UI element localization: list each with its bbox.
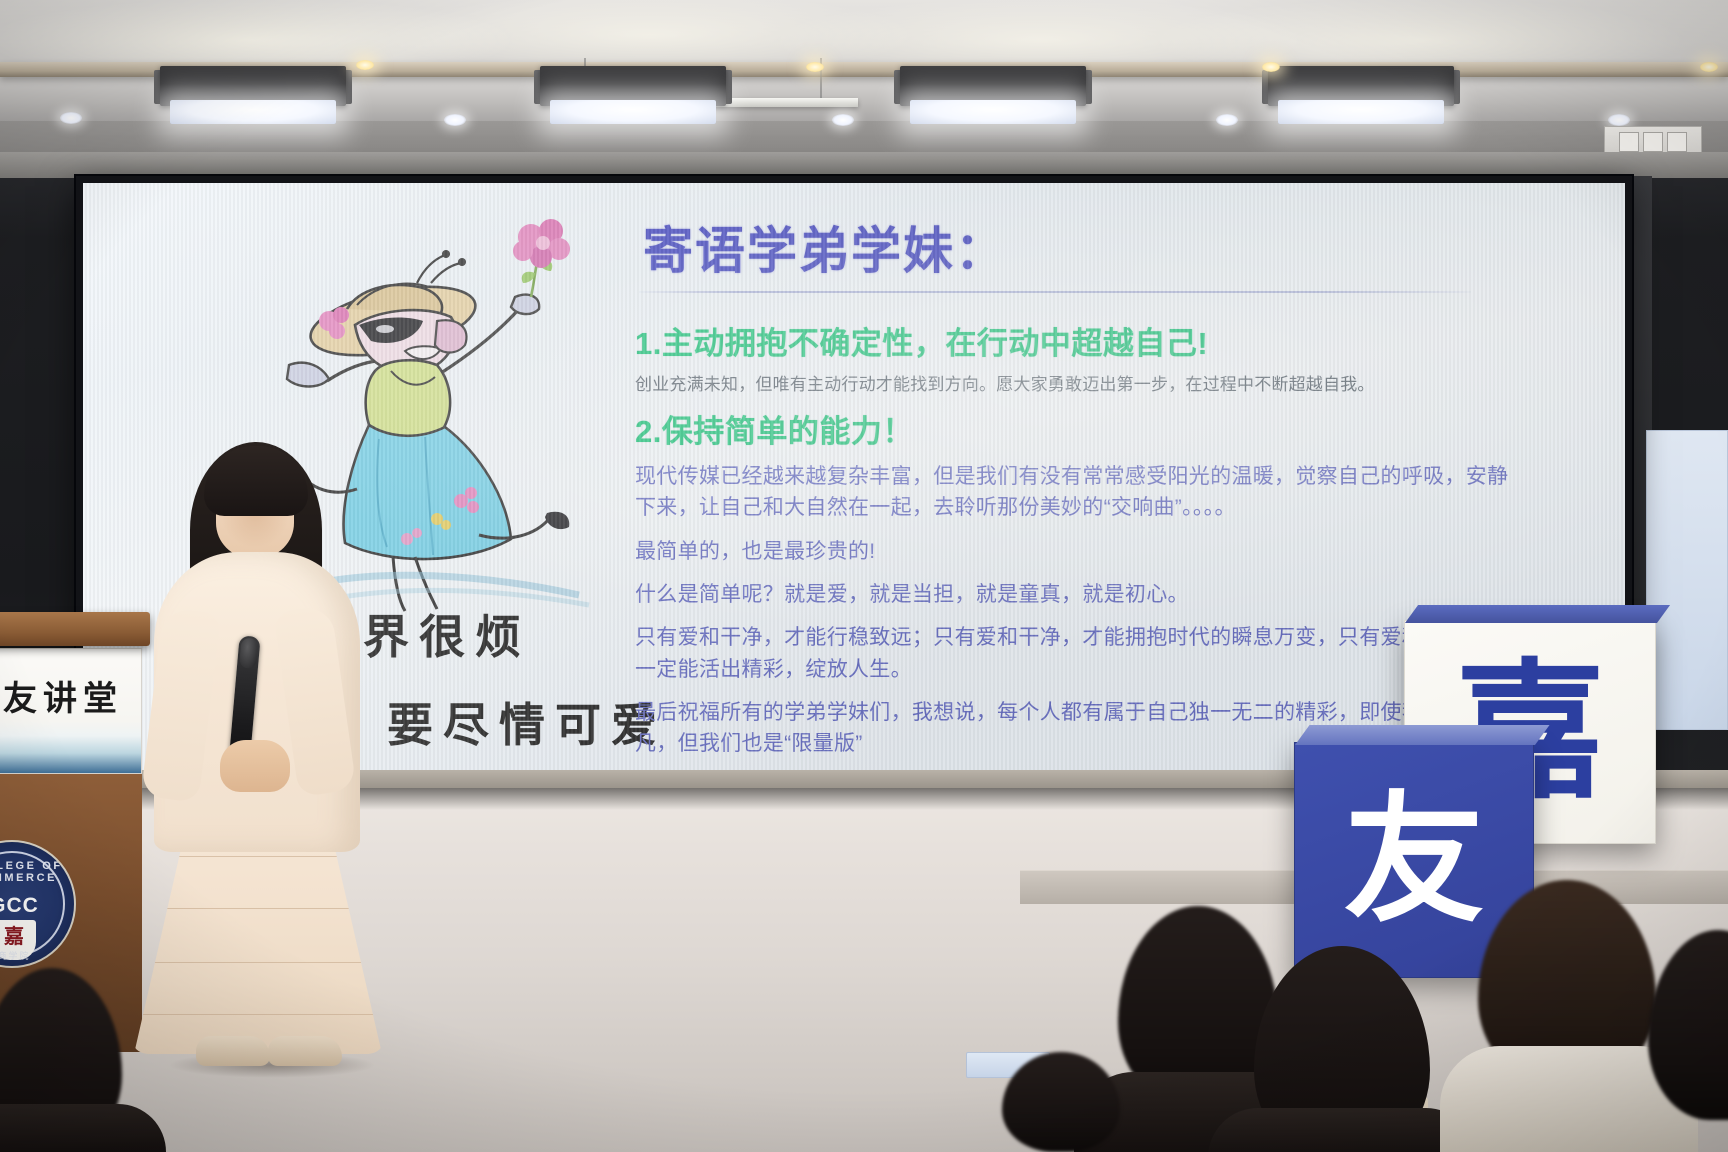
track-spotlight: [1700, 62, 1718, 72]
track-spotlight: [356, 60, 374, 70]
speaker-person: [128, 440, 408, 1040]
lecture-hall-scene: 界很烦 要尽情可爱 寄语学弟学妹： 1.主动拥抱不确定性，在行动中超越自己! 创…: [0, 0, 1728, 1152]
right-wall-panel: [1646, 430, 1728, 730]
slide-paragraph: 最简单的，也是最珍贵的!: [635, 536, 1515, 567]
college-crest-logo: COLLEGE OF COMMERCE GCC 嘉 商学院: [0, 840, 76, 968]
socket: [1619, 132, 1639, 152]
ceiling-downlight: [1216, 114, 1238, 126]
ceiling-light-fixture: [540, 66, 726, 126]
slide-title: 寄语学弟学妹：: [643, 211, 1523, 283]
box-top-lip: [1295, 725, 1550, 745]
crest-arc-text: COLLEGE OF COMMERCE: [0, 860, 76, 884]
track-spotlight: [1262, 62, 1280, 72]
ceiling-downlight: [1608, 114, 1630, 126]
lectern-sign-text: 友讲堂: [0, 671, 145, 720]
speaker-shoe: [196, 1036, 270, 1066]
fixture-lamp: [550, 100, 716, 124]
ceiling-downlight: [832, 114, 854, 126]
speaker-hands: [220, 740, 290, 792]
ceiling-downlight: [60, 112, 82, 124]
lectern-sign-panel: 友讲堂: [0, 648, 142, 774]
ceiling-light-fixture: [1268, 66, 1454, 126]
wall-upper-trim: [0, 152, 1728, 178]
crest-subtext: 商学院: [0, 949, 76, 962]
slide-paragraph: 什么是简单呢？就是爱，就是当担，就是童真，就是初心。: [635, 579, 1515, 610]
socket: [1643, 132, 1663, 152]
slide-paragraph: 现代传媒已经越来越复杂丰富，但是我们有没有常常感受阳光的温暖，觉察自己的呼吸，安…: [635, 461, 1515, 523]
slide-paragraph: 只有爱和干净，才能行稳致远；只有爱和干净，才能拥抱时代的瞬息万变，只有爱和干净，…: [635, 622, 1515, 684]
slide-heading-1: 1.主动拥抱不确定性，在行动中超越自己!: [635, 325, 1515, 364]
stage-box-glyph: 友: [1344, 790, 1484, 930]
ceiling-light-fixture: [160, 66, 346, 126]
fixture-lamp: [1278, 100, 1444, 124]
socket: [1667, 132, 1687, 152]
box-top-lip: [1405, 605, 1670, 623]
speaker-shoe: [268, 1036, 342, 1066]
ceiling: [0, 0, 1728, 152]
fixture-lamp: [170, 100, 336, 124]
title-divider: [639, 291, 1471, 293]
fixture-lamp: [910, 100, 1076, 124]
audience-shoulders: [0, 1104, 166, 1152]
slide-body: 1.主动拥抱不确定性，在行动中超越自己! 创业充满未知，但唯有主动行动才能找到方…: [635, 319, 1515, 771]
slide-heading-2: 2.保持简单的能力！: [635, 413, 1515, 452]
ceiling-lip: [0, 121, 1728, 155]
audience-shoulders: [1208, 1108, 1476, 1152]
ceiling-downlight: [444, 114, 466, 126]
crest-monogram: GCC: [0, 894, 76, 918]
track-spotlight: [806, 62, 824, 72]
ceiling-light-fixture: [900, 66, 1086, 126]
slide-note-paragraph: 创业充满未知，但唯有主动行动才能找到方向。愿大家勇敢迈出第一步，在过程中不断超越…: [635, 373, 1515, 398]
